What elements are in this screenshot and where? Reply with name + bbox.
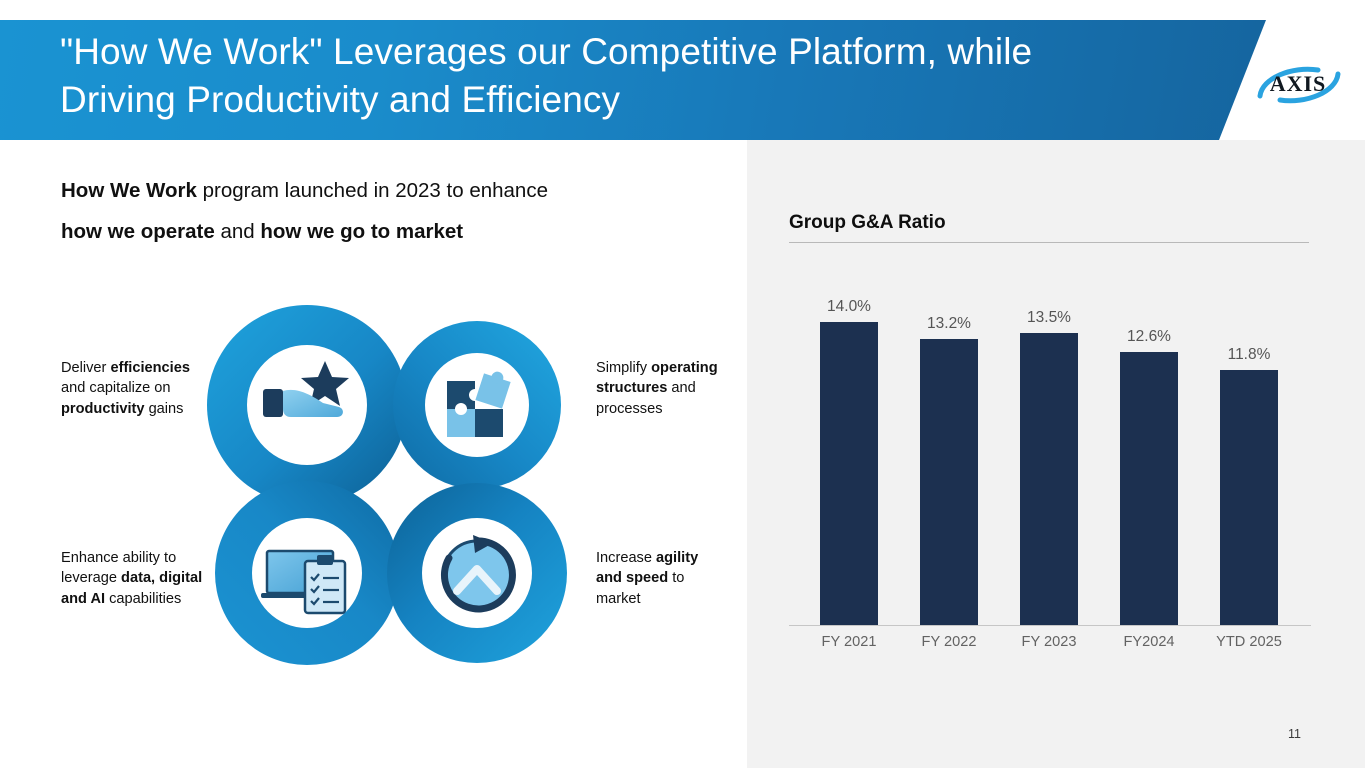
bar-fy-2022[interactable] <box>920 339 978 625</box>
category-label: YTD 2025 <box>1199 634 1299 650</box>
callout-top-left: Deliver efficiencies and capitalize on p… <box>61 358 201 419</box>
how-we-work-quadrant-graphic <box>205 303 587 685</box>
callout-bottom-left: Enhance ability to leverage data, digita… <box>61 548 203 609</box>
bar-group: 14.0%FY 2021 <box>799 262 899 625</box>
bar-fy-2021[interactable] <box>820 322 878 625</box>
ring-top-right <box>393 321 561 489</box>
bar-value-label: 13.5% <box>999 309 1099 327</box>
chart-title: Group G&A Ratio <box>789 212 946 234</box>
category-label: FY 2021 <box>799 634 899 650</box>
chart-plot-area: 14.0%FY 202113.2%FY 202213.5%FY 202312.6… <box>799 262 1301 625</box>
bar-value-label: 11.8% <box>1199 346 1299 364</box>
callout-bottom-right: Increase agility and speed to market <box>596 548 724 609</box>
bar-group: 11.8%YTD 2025 <box>1199 262 1299 625</box>
callout-top-right: Simplify operating structures and proces… <box>596 358 726 419</box>
bar-fy2024[interactable] <box>1120 352 1178 625</box>
bar-group: 13.2%FY 2022 <box>899 262 999 625</box>
group-ga-ratio-bar-chart: 14.0%FY 202113.2%FY 202213.5%FY 202312.6… <box>789 262 1311 660</box>
bar-value-label: 13.2% <box>899 315 999 333</box>
axis-logo: AXIS <box>1252 62 1344 108</box>
bar-ytd-2025[interactable] <box>1220 370 1278 625</box>
bar-group: 13.5%FY 2023 <box>999 262 1099 625</box>
category-label: FY 2023 <box>999 634 1099 650</box>
page-number: 11 <box>1288 727 1301 741</box>
chart-x-axis <box>789 625 1311 626</box>
category-label: FY2024 <box>1099 634 1199 650</box>
lede-text: How We Work program launched in 2023 to … <box>61 170 721 252</box>
chart-title-divider <box>789 242 1309 243</box>
bar-value-label: 14.0% <box>799 298 899 316</box>
svg-text:AXIS: AXIS <box>1270 71 1327 96</box>
slide: "How We Work" Leverages our Competitive … <box>0 0 1365 768</box>
category-label: FY 2022 <box>899 634 999 650</box>
bar-group: 12.6%FY2024 <box>1099 262 1199 625</box>
bar-value-label: 12.6% <box>1099 328 1199 346</box>
page-title: "How We Work" Leverages our Competitive … <box>60 28 1140 124</box>
bar-fy-2023[interactable] <box>1020 333 1078 625</box>
